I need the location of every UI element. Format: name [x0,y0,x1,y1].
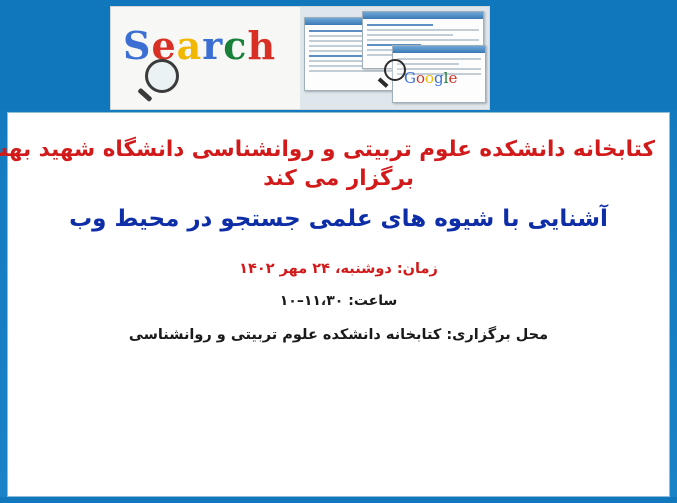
content-panel: کتابخانه دانشکده علوم تربیتی و روانشناسی… [7,112,670,497]
banner-image: Search [110,6,490,110]
banner-search-panel: Search [111,7,300,109]
event-time: ساعت: ۱۱،۳۰–۱۰ [22,293,655,309]
poster-subtitle: آشنایی با شیوه های علمی جستجو در محیط وب [22,203,655,235]
google-wordmark: Google [404,69,457,87]
poster-root: Search [0,0,677,503]
banner-browser-panel: Google [300,7,489,109]
poster-title-line2: برگزار می کند [22,164,655,193]
event-date: زمان: دوشنبه، ۲۴ مهر ۱۴۰۲ [22,261,655,277]
poster-title: کتابخانه دانشکده علوم تربیتی و روانشناسی… [22,135,655,193]
magnifier-icon [137,59,183,105]
event-location: محل برگزاری: کتابخانه دانشکده علوم تربیت… [22,327,655,343]
top-blue-band: Search [0,0,677,110]
poster-title-line1: کتابخانه دانشکده علوم تربیتی و روانشناسی… [0,137,655,162]
bottom-blue-strip [0,497,677,503]
